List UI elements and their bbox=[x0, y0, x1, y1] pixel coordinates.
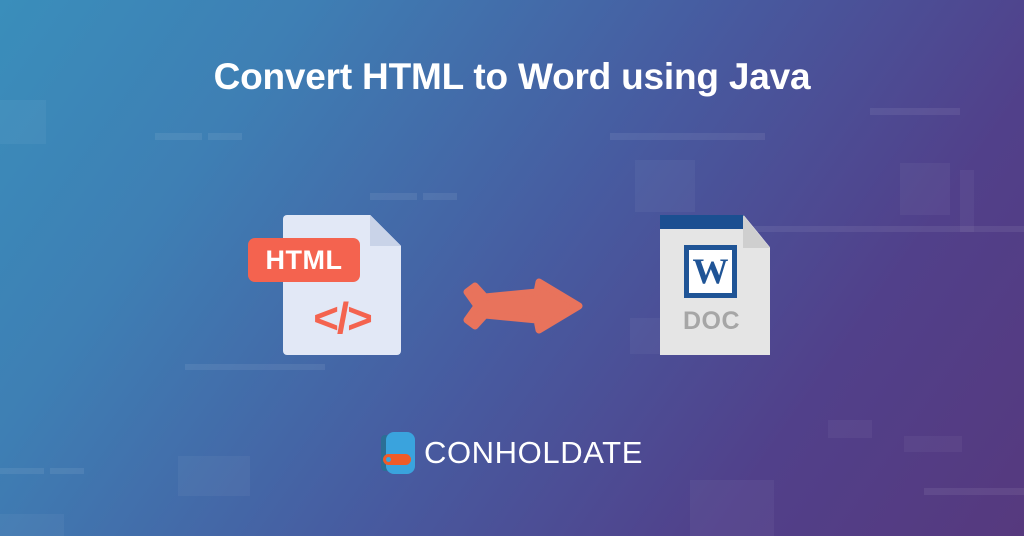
background-decoration-block bbox=[900, 163, 950, 215]
background-decoration-block bbox=[960, 170, 974, 232]
background-decoration-bar bbox=[208, 133, 242, 140]
background-decoration-bar bbox=[924, 488, 1024, 495]
book-cover-shape bbox=[386, 432, 415, 474]
background-decoration-block bbox=[0, 514, 64, 536]
background-decoration-bar bbox=[610, 133, 765, 140]
word-logo-letter: W bbox=[693, 253, 729, 289]
word-logo-icon: W bbox=[684, 245, 737, 298]
background-decoration-bar bbox=[370, 193, 417, 200]
book-band-dot bbox=[386, 457, 391, 462]
right-arrow-svg bbox=[463, 278, 583, 334]
background-decoration-block bbox=[635, 160, 695, 212]
page-title: Convert HTML to Word using Java bbox=[0, 52, 1024, 102]
brand-logo: CONHOLDATE bbox=[0, 432, 1024, 474]
doc-top-bar bbox=[660, 215, 744, 229]
background-decoration-bar bbox=[155, 133, 202, 140]
background-decoration-bar bbox=[423, 193, 457, 200]
background-decoration-block bbox=[690, 480, 774, 536]
doc-format-label: DOC bbox=[660, 307, 763, 336]
brand-name: CONHOLDATE bbox=[424, 436, 643, 470]
html-file-icon: </> HTML bbox=[283, 215, 401, 355]
background-decoration-bar bbox=[870, 108, 960, 115]
doc-file-icon: W DOC bbox=[660, 215, 770, 355]
html-page-fold-corner bbox=[370, 215, 401, 246]
html-format-badge: HTML bbox=[248, 238, 360, 282]
code-brackets-glyph: </> bbox=[283, 295, 401, 343]
right-arrow-icon bbox=[463, 278, 583, 334]
banner-canvas: Convert HTML to Word using Java </> HTML… bbox=[0, 0, 1024, 536]
background-decoration-block bbox=[0, 100, 46, 144]
background-decoration-bar bbox=[185, 364, 325, 370]
conholdate-book-icon bbox=[381, 432, 415, 474]
